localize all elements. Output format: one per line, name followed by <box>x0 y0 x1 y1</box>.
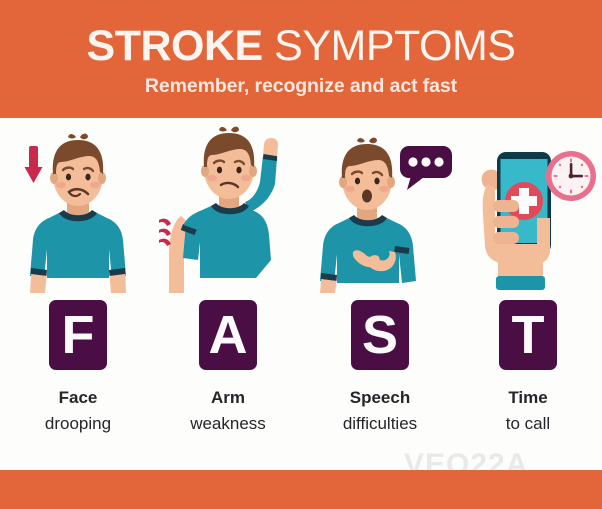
symptom-columns: F Face drooping <box>0 118 602 470</box>
caption-arm-sub: weakness <box>153 410 303 438</box>
speech-difficulties-illustration <box>305 118 455 293</box>
page-title: STROKE SYMPTOMS <box>87 24 516 68</box>
letter-tile-a: A <box>199 300 257 370</box>
letter-tile-a-text: A <box>209 308 248 362</box>
caption-speech-main: Speech <box>305 385 455 410</box>
pain-arcs-icon <box>159 219 171 246</box>
letter-tile-s: S <box>351 300 409 370</box>
title-light-word: SYMPTOMS <box>274 22 515 70</box>
letter-tile-t: T <box>499 300 557 370</box>
time-to-call-illustration <box>453 118 602 293</box>
header-banner: STROKE SYMPTOMS Remember, recognize and … <box>0 0 602 118</box>
letter-tile-f-text: F <box>62 308 95 362</box>
footer-banner <box>0 470 602 509</box>
caption-face: Face drooping <box>3 385 153 438</box>
stroke-symptoms-infographic: STROKE SYMPTOMS Remember, recognize and … <box>0 0 602 509</box>
caption-time-main: Time <box>453 385 602 410</box>
symptom-column-time: T Time to call <box>453 118 602 470</box>
symptom-column-speech: S Speech difficulties <box>305 118 455 470</box>
letter-tile-f: F <box>49 300 107 370</box>
clock-icon <box>546 151 596 201</box>
speech-bubble-icon <box>400 146 452 190</box>
letter-tile-t-text: T <box>512 308 545 362</box>
symptom-column-arm: A Arm weakness <box>153 118 303 470</box>
caption-time: Time to call <box>453 385 602 438</box>
caption-face-sub: drooping <box>3 410 153 438</box>
page-subtitle: Remember, recognize and act fast <box>145 75 457 98</box>
title-strong-word: STROKE <box>87 22 263 70</box>
symptom-column-face: F Face drooping <box>3 118 153 470</box>
caption-face-main: Face <box>3 385 153 410</box>
letter-tile-s-text: S <box>362 308 398 362</box>
arm-weakness-illustration <box>153 118 303 293</box>
down-arrow-icon <box>25 146 43 183</box>
face-drooping-illustration <box>3 118 153 293</box>
caption-speech: Speech difficulties <box>305 385 455 438</box>
caption-arm: Arm weakness <box>153 385 303 438</box>
caption-arm-main: Arm <box>153 385 303 410</box>
caption-speech-sub: difficulties <box>305 410 455 438</box>
caption-time-sub: to call <box>453 410 602 438</box>
